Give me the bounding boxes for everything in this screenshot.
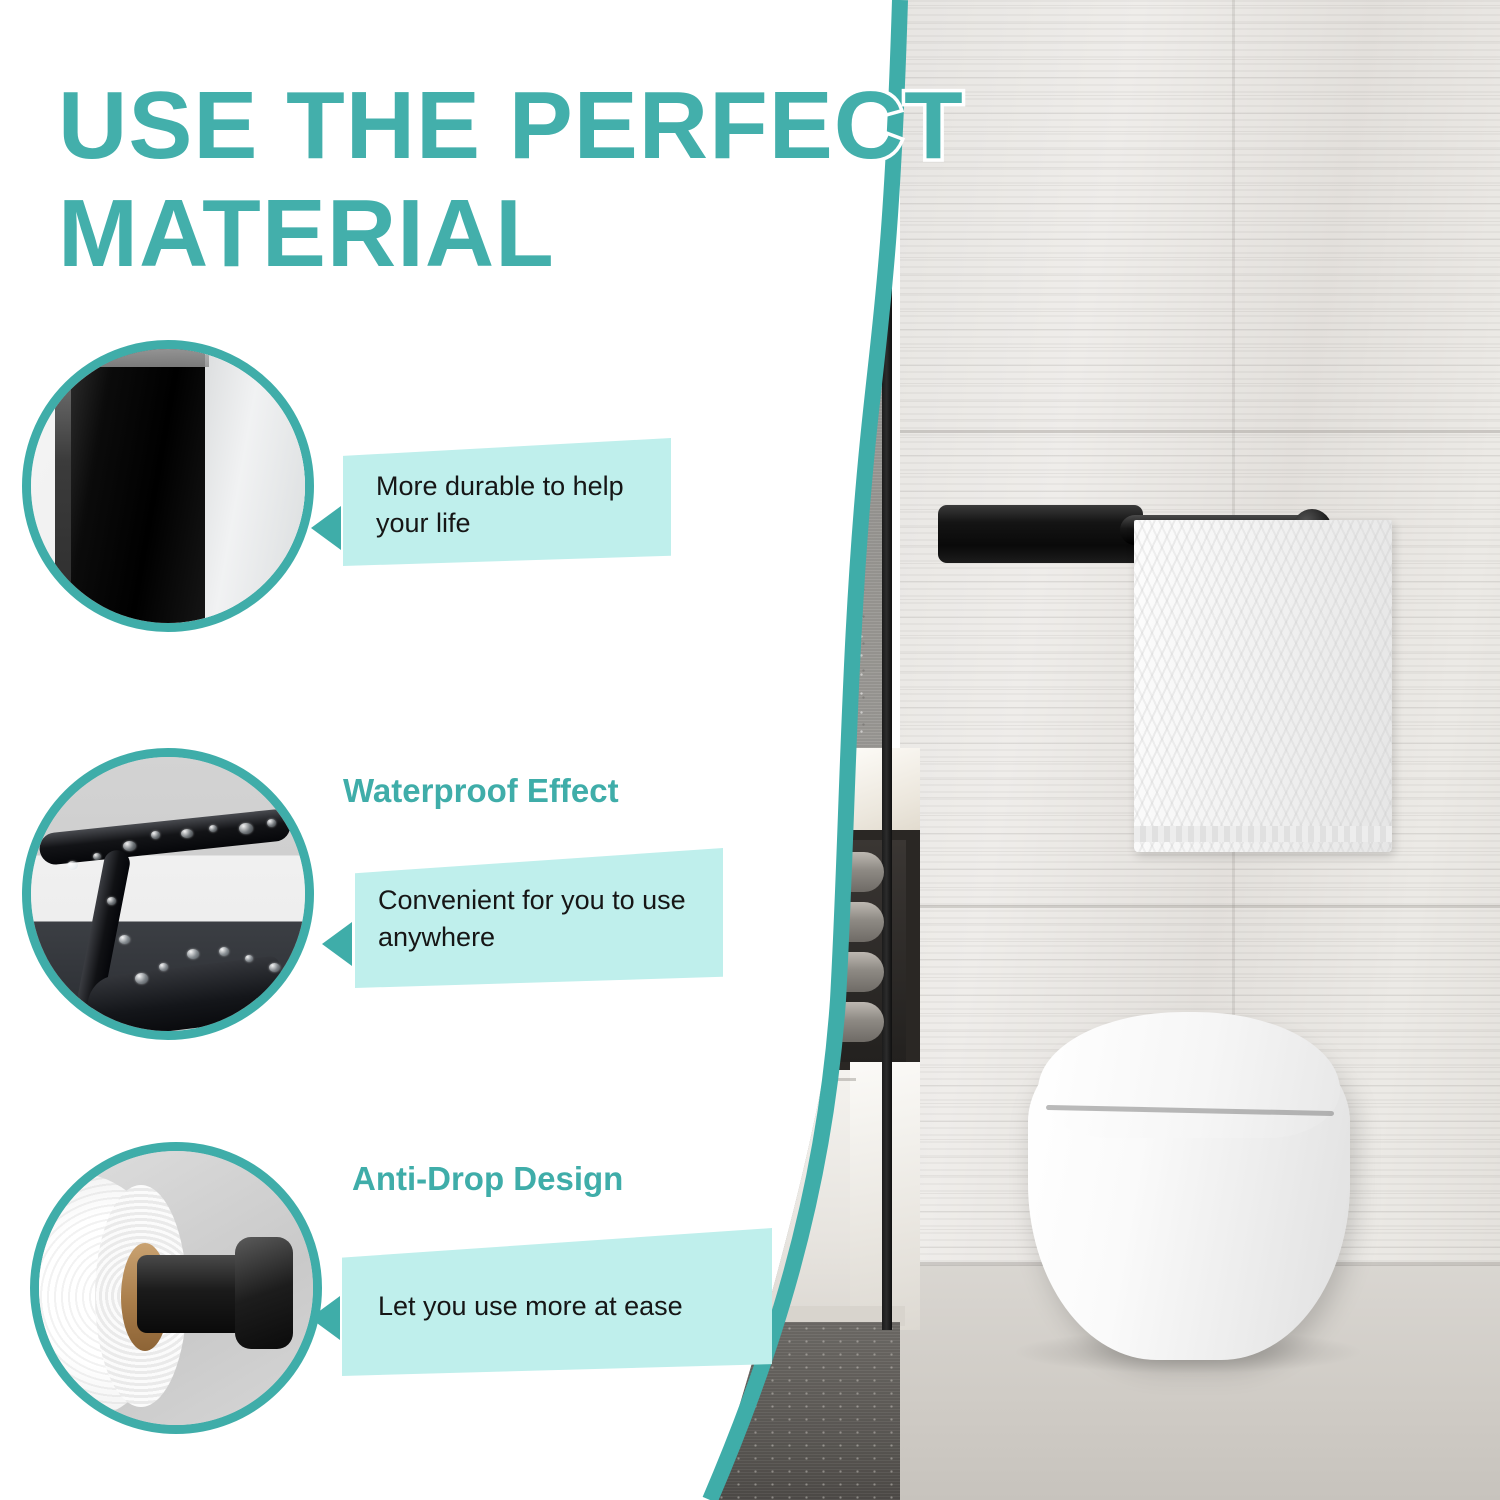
feature-image-anti-drop bbox=[30, 1142, 322, 1434]
water-droplet-icon bbox=[219, 947, 229, 956]
reed-stick bbox=[792, 560, 799, 678]
water-droplet-icon bbox=[245, 955, 253, 962]
water-droplet-icon bbox=[135, 973, 148, 984]
amenity-bottle bbox=[748, 712, 758, 732]
water-droplet-icon bbox=[67, 861, 78, 870]
water-droplet-icon bbox=[187, 949, 199, 959]
amenity-bottle bbox=[714, 712, 724, 732]
water-droplet-icon bbox=[209, 825, 217, 832]
water-droplet-icon bbox=[151, 831, 160, 839]
water-droplet-icon bbox=[119, 935, 130, 944]
water-droplet-icon bbox=[239, 823, 253, 834]
rolled-towel bbox=[632, 1002, 884, 1042]
feature-heading-waterproof: Waterproof Effect bbox=[343, 772, 619, 810]
amenity-bottle bbox=[782, 712, 792, 732]
black-coating-layer bbox=[55, 340, 205, 632]
reed-stick bbox=[769, 561, 791, 670]
amenity-bottle bbox=[765, 712, 775, 732]
faucet-knob bbox=[742, 742, 768, 772]
reed-stick bbox=[757, 564, 789, 665]
reed-stick bbox=[747, 567, 786, 659]
amenity-bottle bbox=[799, 712, 809, 732]
coating-top-facet bbox=[57, 340, 209, 367]
coating-edge-highlight bbox=[55, 340, 71, 632]
callout-arrow-icon bbox=[322, 922, 352, 966]
white-hand-towel bbox=[1134, 520, 1392, 852]
water-droplet-icon bbox=[159, 963, 168, 971]
title-line-1: USE THE PERFECT bbox=[58, 72, 1118, 180]
towel-hem bbox=[1134, 826, 1392, 842]
amenity-tray bbox=[710, 718, 828, 750]
reed-diffuser-jar bbox=[765, 676, 809, 736]
black-hook-cap bbox=[235, 1237, 293, 1349]
faucet-spout bbox=[664, 746, 722, 758]
feature-image-waterproof bbox=[22, 748, 314, 1040]
callout-text: More durable to help your life bbox=[376, 468, 666, 543]
reed-stick bbox=[796, 563, 825, 667]
faucet-stem bbox=[664, 690, 677, 776]
title-line-2: MATERIAL bbox=[58, 180, 1118, 288]
amenity-bottle bbox=[731, 712, 741, 732]
water-droplet-icon bbox=[181, 829, 193, 838]
grout-line bbox=[900, 905, 1500, 908]
grout-line bbox=[900, 430, 1500, 433]
feature-image-durable bbox=[22, 340, 314, 632]
callout-arrow-icon bbox=[311, 506, 341, 550]
reed-stick bbox=[794, 561, 813, 672]
faucet-base bbox=[646, 740, 688, 778]
water-droplet-icon bbox=[123, 841, 136, 851]
towel-bar-mounting-plate bbox=[938, 505, 1143, 563]
water-droplet-icon bbox=[107, 897, 116, 905]
reed-stick bbox=[782, 560, 793, 676]
callout-text: Let you use more at ease bbox=[378, 1288, 758, 1325]
vanity-cabinet-seam bbox=[620, 1078, 856, 1081]
reed-stick bbox=[798, 566, 835, 661]
callout-text: Convenient for you to use anywhere bbox=[378, 882, 708, 957]
water-droplet-icon bbox=[267, 819, 276, 827]
water-droplet-icon bbox=[269, 963, 280, 972]
callout-arrow-icon bbox=[310, 1296, 340, 1340]
page-title: USE THE PERFECT MATERIAL bbox=[58, 72, 1118, 287]
feature-heading-anti-drop: Anti-Drop Design bbox=[352, 1160, 623, 1198]
water-droplet-icon bbox=[93, 853, 101, 860]
